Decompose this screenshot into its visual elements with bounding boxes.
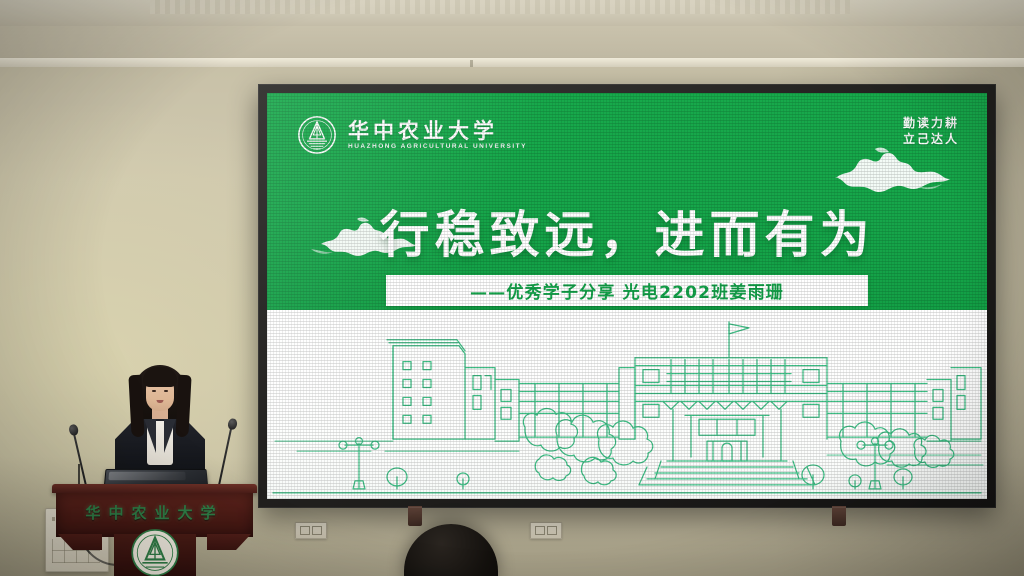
wall-outlet[interactable] (295, 522, 327, 539)
ceiling (0, 0, 1024, 26)
cloud-decoration-right (819, 143, 951, 195)
presenter-lapel (164, 419, 176, 453)
lectern: 华中农业大学 (52, 484, 257, 576)
led-display-frame: 华中农业大学 HUAZHONG AGRICULTURAL UNIVERSITY … (258, 84, 996, 508)
hzau-crest-icon (128, 524, 182, 576)
presenter-lapel (144, 419, 156, 453)
slide-subtitle: ——优秀学子分享 光电2202班姜雨珊 (470, 278, 784, 303)
microphone-icon[interactable] (217, 425, 233, 490)
wall-outlet[interactable] (530, 522, 562, 539)
lectern-base-wing (207, 534, 251, 550)
motto-line-1: 勤读力耕 (903, 115, 959, 131)
lecture-hall-scene: 华中农业大学 HUAZHONG AGRICULTURAL UNIVERSITY … (0, 0, 1024, 576)
slide-title: 行稳致远，进而有为 (267, 195, 987, 267)
lectern-top (52, 484, 257, 493)
mount-bracket (832, 506, 846, 526)
university-logo: 华中农业大学 HUAZHONG AGRICULTURAL UNIVERSITY (297, 115, 527, 155)
podium-area: 华中农业大学 (52, 352, 257, 576)
mount-bracket (408, 506, 422, 526)
slide-subtitle-bar: ——优秀学子分享 光电2202班姜雨珊 (386, 275, 868, 306)
lectern-name-plate: 华中农业大学 (56, 502, 253, 523)
university-name-en: HUAZHONG AGRICULTURAL UNIVERSITY (348, 143, 527, 150)
lectern-base-wing (58, 534, 102, 550)
campus-building-line-art (267, 310, 987, 499)
wall-trim-molding (0, 58, 1024, 67)
wall-trim-upper (0, 26, 1024, 60)
motto-line-2: 立己达人 (903, 131, 959, 147)
university-name-cn: 华中农业大学 (348, 121, 527, 142)
led-display-screen[interactable]: 华中农业大学 HUAZHONG AGRICULTURAL UNIVERSITY … (267, 93, 987, 499)
university-motto: 勤读力耕 立己达人 (903, 115, 959, 147)
ceiling-ribs (150, 0, 850, 14)
slide-green-band: 华中农业大学 HUAZHONG AGRICULTURAL UNIVERSITY … (267, 93, 987, 310)
presenter-fringe (143, 367, 177, 387)
campus-illustration-area (267, 310, 987, 499)
hzau-crest-icon (297, 115, 337, 155)
